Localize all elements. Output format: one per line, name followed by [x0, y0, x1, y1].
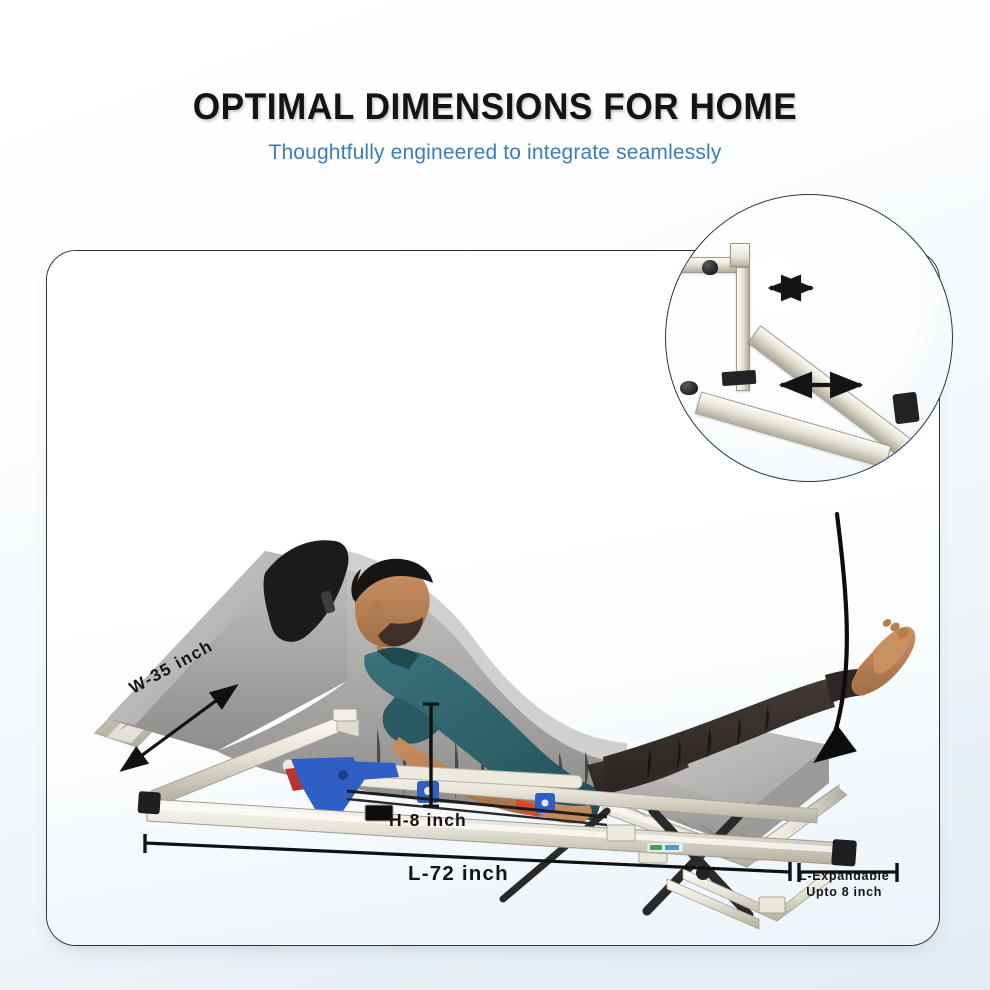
page-title: OPTIMAL DIMENSIONS FOR HOME	[25, 0, 966, 128]
header: OPTIMAL DIMENSIONS FOR HOME Thoughtfully…	[0, 0, 990, 165]
height-dimension-label: H-8 inch	[389, 810, 467, 831]
frame-detail-inset	[665, 194, 953, 482]
length-dimension-label: L-72 inch	[408, 862, 509, 886]
page-root: OPTIMAL DIMENSIONS FOR HOME Thoughtfully…	[0, 0, 990, 990]
page-subtitle: Thoughtfully engineered to integrate sea…	[0, 128, 990, 165]
expandable-line-2: Upto 8 inch	[799, 884, 889, 900]
expandable-line-1: L-Expandable	[799, 868, 889, 884]
expandable-dimension-label: L-Expandable Upto 8 inch	[799, 868, 889, 900]
inset-arrows	[666, 195, 952, 481]
